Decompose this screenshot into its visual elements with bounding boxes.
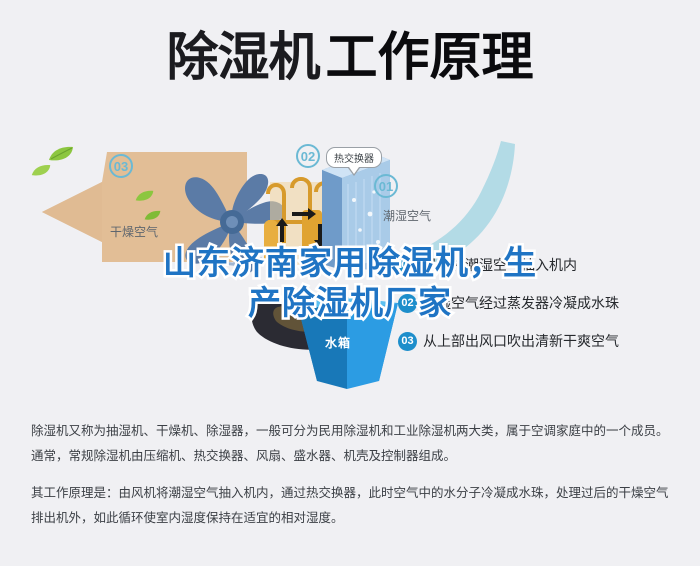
step-text-01: 风机将潮湿空气抽入机内 <box>423 255 577 275</box>
leaf-icon <box>48 146 74 162</box>
step-item: 01 风机将潮湿空气抽入机内 <box>398 246 688 284</box>
body-copy: 除湿机又称为抽湿机、干燥机、除湿器，一般可分为民用除湿机和工业除湿机两大类，属于… <box>31 418 673 530</box>
callout-badge-01: 01 <box>374 174 398 198</box>
callout-label-humid-air: 潮湿空气 <box>383 207 431 224</box>
step-list: 01 风机将潮湿空气抽入机内 02 潮湿空气经过蒸发器冷凝成水珠 03 从上部出… <box>398 246 688 360</box>
callout-label-dry-air: 干燥空气 <box>110 223 158 240</box>
callout-badge-03: 03 <box>109 154 133 178</box>
step-text-03: 从上部出风口吹出清新干爽空气 <box>423 331 619 351</box>
page-title-part-2: 工作原理 <box>326 29 534 87</box>
leaf-icon <box>31 164 51 177</box>
step-badge-02: 02 <box>398 294 417 313</box>
paragraph-2: 其工作原理是：由风机将潮湿空气抽入机内，通过热交换器，此时空气中的水分子冷凝成水… <box>31 480 673 530</box>
step-badge-01: 01 <box>398 256 417 275</box>
step-text-02: 潮湿空气经过蒸发器冷凝成水珠 <box>423 293 619 313</box>
infographic-page: 除湿机工作原理 <box>0 0 700 566</box>
step-badge-03: 03 <box>398 332 417 351</box>
page-title: 除湿机工作原理 <box>0 30 700 86</box>
leaf-icon <box>135 190 154 202</box>
step-item: 02 潮湿空气经过蒸发器冷凝成水珠 <box>398 284 688 322</box>
leaf-icon <box>144 210 161 221</box>
callout-badge-02: 02 <box>296 144 320 168</box>
callout-bubble-heat-exchanger: 热交换器 <box>326 147 382 168</box>
step-item: 03 从上部出风口吹出清新干爽空气 <box>398 322 688 360</box>
paragraph-1: 除湿机又称为抽湿机、干燥机、除湿器，一般可分为民用除湿机和工业除湿机两大类，属于… <box>31 418 673 468</box>
page-title-part-1: 除湿机 <box>166 28 319 88</box>
water-tank-label: 水箱 <box>325 334 351 351</box>
